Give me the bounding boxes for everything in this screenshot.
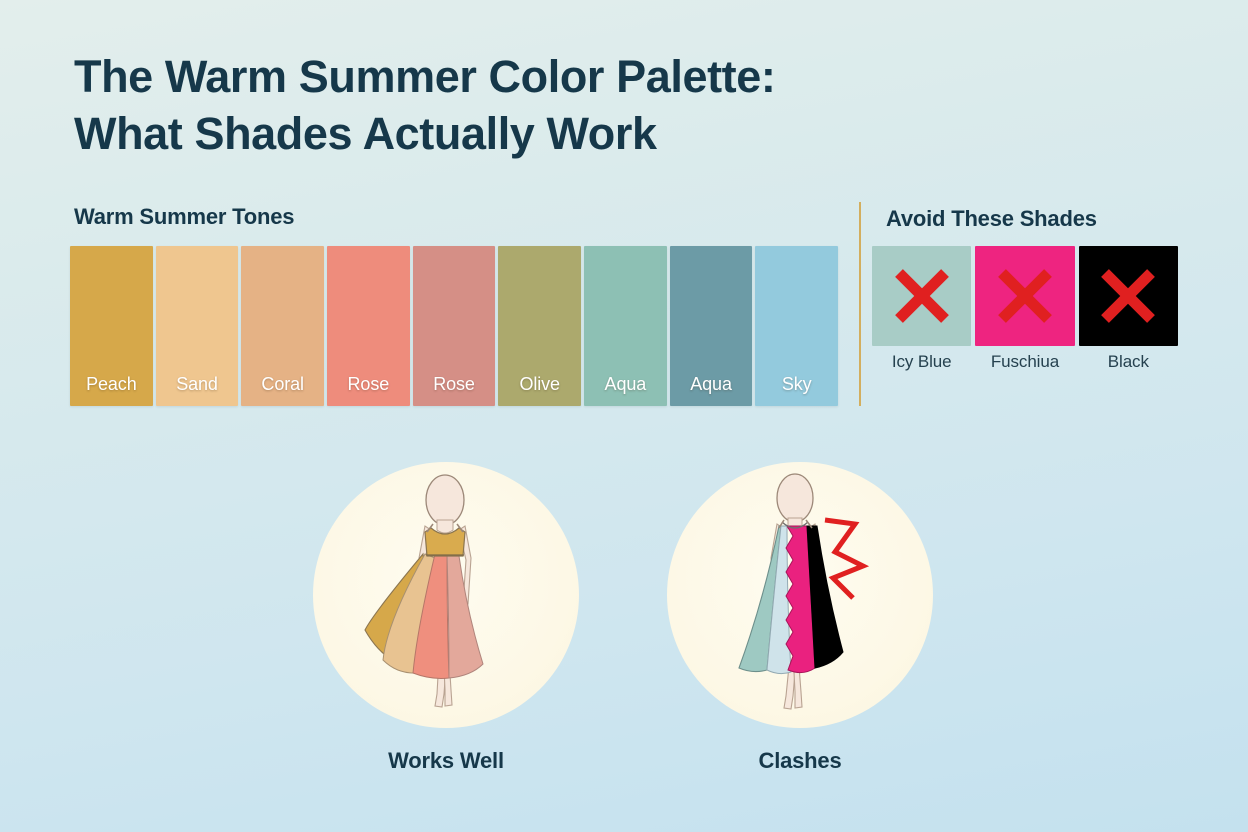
swatch-rose-3[interactable]: Rose <box>327 246 410 406</box>
caption-clashes: Clashes <box>667 748 933 774</box>
avoid-label-fuschiua: Fuschiua <box>975 352 1074 372</box>
swatch-label: Coral <box>241 374 324 395</box>
swatch-aqua-7[interactable]: Aqua <box>670 246 753 406</box>
swatch-olive-5[interactable]: Olive <box>498 246 581 406</box>
title-line-2: What Shades Actually Work <box>74 105 974 162</box>
avoid-swatch-icy-blue[interactable] <box>872 246 971 346</box>
figure-clashes <box>667 462 933 728</box>
swatch-sky-8[interactable]: Sky <box>755 246 838 406</box>
swatch-coral-2[interactable]: Coral <box>241 246 324 406</box>
avoid-palette-strip <box>872 246 1178 346</box>
cross-icon <box>1097 265 1159 327</box>
swatch-label: Peach <box>70 374 153 395</box>
avoid-shades-heading: Avoid These Shades <box>886 206 1097 232</box>
avoid-label-black: Black <box>1079 352 1178 372</box>
lightning-bolt-icon <box>825 520 863 598</box>
avoid-label-row: Icy BlueFuschiuaBlack <box>872 352 1178 372</box>
illustration-clashes <box>667 462 933 728</box>
cross-icon <box>994 265 1056 327</box>
caption-works-well: Works Well <box>313 748 579 774</box>
infographic-canvas: The Warm Summer Color Palette: What Shad… <box>0 0 1248 832</box>
avoid-label-icy-blue: Icy Blue <box>872 352 971 372</box>
swatch-rose-4[interactable]: Rose <box>413 246 496 406</box>
swatch-label: Rose <box>413 374 496 395</box>
illustration-works-well <box>313 462 579 728</box>
swatch-label: Aqua <box>584 374 667 395</box>
swatch-peach-0[interactable]: Peach <box>70 246 153 406</box>
title-line-1: The Warm Summer Color Palette: <box>74 48 974 105</box>
avoid-swatch-fuschiua[interactable] <box>975 246 1074 346</box>
figure-works-well <box>313 462 579 728</box>
swatch-label: Sky <box>755 374 838 395</box>
swatch-label: Rose <box>327 374 410 395</box>
swatch-sand-1[interactable]: Sand <box>156 246 239 406</box>
warm-tones-heading: Warm Summer Tones <box>74 204 294 230</box>
avoid-swatch-black[interactable] <box>1079 246 1178 346</box>
warm-palette-strip: PeachSandCoralRoseRoseOliveAquaAquaSky <box>70 246 838 406</box>
swatch-label: Aqua <box>670 374 753 395</box>
swatch-aqua-6[interactable]: Aqua <box>584 246 667 406</box>
page-title: The Warm Summer Color Palette: What Shad… <box>74 48 974 162</box>
swatch-label: Sand <box>156 374 239 395</box>
section-divider <box>859 202 861 406</box>
swatch-label: Olive <box>498 374 581 395</box>
cross-icon <box>891 265 953 327</box>
